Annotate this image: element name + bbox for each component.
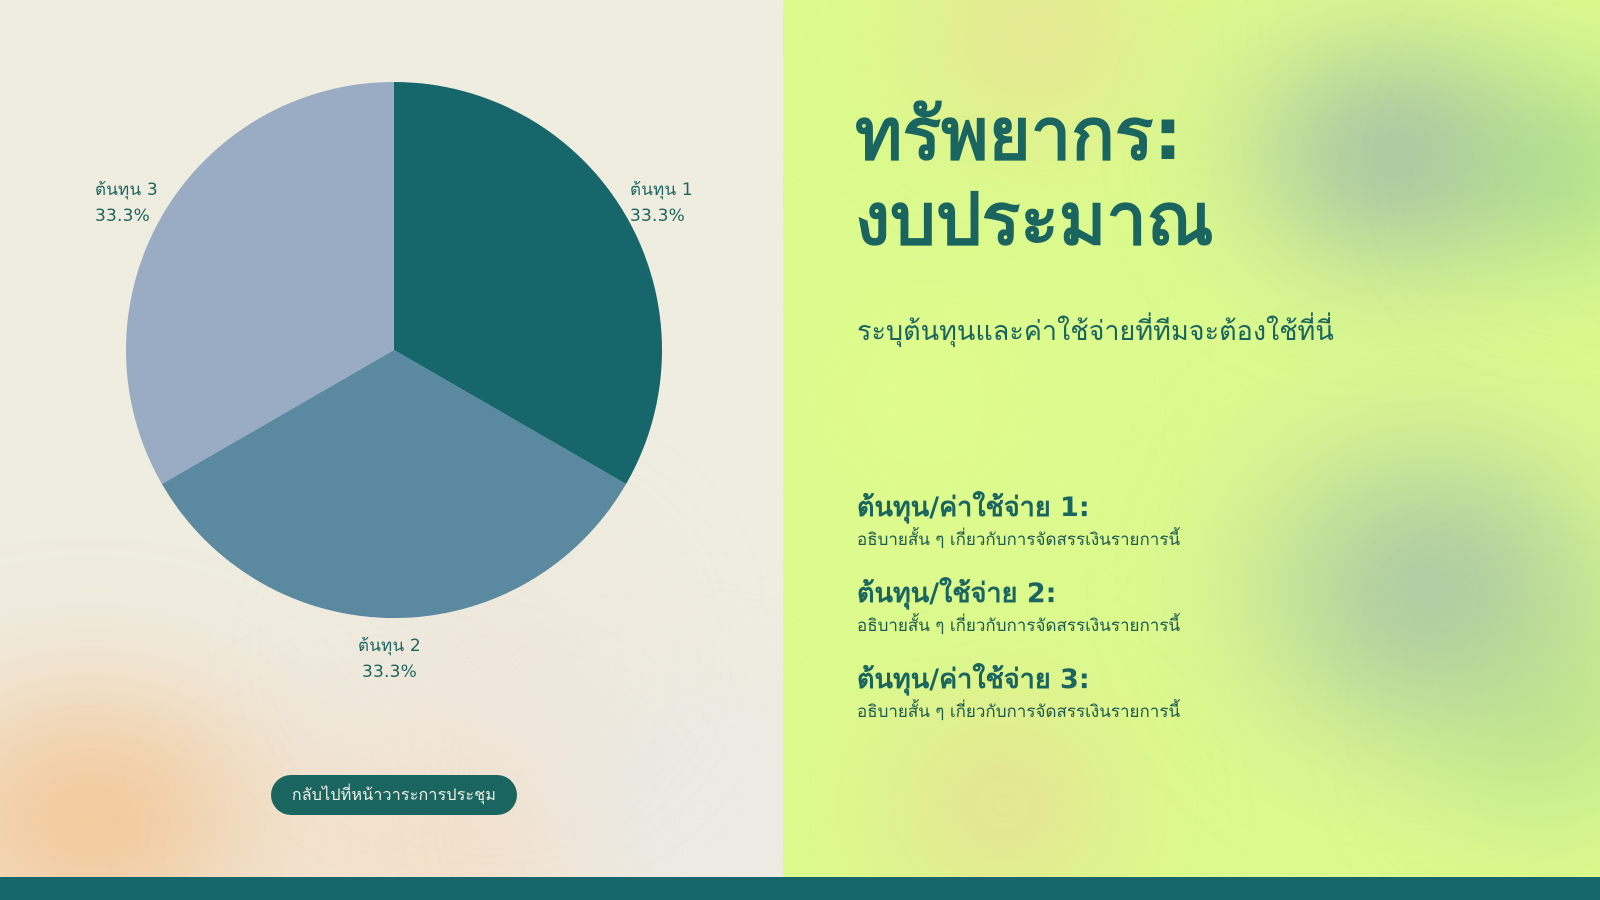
right-panel: ทรัพยากร: งบประมาณ ระบุต้นทุนและค่าใช้จ่… [783, 0, 1600, 877]
pie-label-cost-2-value: 33.3% [358, 660, 421, 686]
pie-label-cost-3-name: ต้นทุน 3 [95, 178, 158, 204]
cost-item-title: ต้นทุน/ค่าใช้จ่าย 3: [857, 662, 1517, 697]
back-to-agenda-button[interactable]: กลับไปที่หน้าวาระการประชุม [271, 775, 517, 815]
page-title-line-2: งบประมาณ [855, 177, 1214, 262]
pie-label-cost-3: ต้นทุน 3 33.3% [95, 178, 158, 229]
cost-item-list: ต้นทุน/ค่าใช้จ่าย 1: อธิบายสั้น ๆ เกี่ยว… [857, 490, 1517, 724]
pie-label-cost-3-value: 33.3% [95, 204, 158, 230]
cost-item: ต้นทุน/ค่าใช้จ่าย 3: อธิบายสั้น ๆ เกี่ยว… [857, 662, 1517, 724]
page-title: ทรัพยากร: งบประมาณ [855, 92, 1214, 262]
footer-bar [0, 877, 1600, 900]
cost-item-title: ต้นทุน/ใช้จ่าย 2: [857, 576, 1517, 611]
slide-root: ต้นทุน 1 33.3% ต้นทุน 2 33.3% ต้นทุน 3 3… [0, 0, 1600, 900]
cost-item: ต้นทุน/ใช้จ่าย 2: อธิบายสั้น ๆ เกี่ยวกับ… [857, 576, 1517, 638]
pie-label-cost-1-value: 33.3% [630, 204, 693, 230]
cost-item-title: ต้นทุน/ค่าใช้จ่าย 1: [857, 490, 1517, 525]
right-content: ทรัพยากร: งบประมาณ ระบุต้นทุนและค่าใช้จ่… [855, 0, 1555, 877]
pie-chart-area: ต้นทุน 1 33.3% ต้นทุน 2 33.3% ต้นทุน 3 3… [0, 0, 783, 760]
pie-chart [124, 80, 664, 620]
pie-label-cost-1: ต้นทุน 1 33.3% [630, 178, 693, 229]
cost-item-description: อธิบายสั้น ๆ เกี่ยวกับการจัดสรรเงินรายกา… [857, 529, 1517, 552]
cost-item-description: อธิบายสั้น ๆ เกี่ยวกับการจัดสรรเงินรายกา… [857, 701, 1517, 724]
pie-label-cost-1-name: ต้นทุน 1 [630, 178, 693, 204]
page-title-line-1: ทรัพยากร: [855, 92, 1214, 177]
page-subtitle: ระบุต้นทุนและค่าใช้จ่ายที่ทีมจะต้องใช้ที… [857, 314, 1334, 349]
left-panel: ต้นทุน 1 33.3% ต้นทุน 2 33.3% ต้นทุน 3 3… [0, 0, 783, 877]
pie-label-cost-2-name: ต้นทุน 2 [358, 634, 421, 660]
cost-item-description: อธิบายสั้น ๆ เกี่ยวกับการจัดสรรเงินรายกา… [857, 615, 1517, 638]
cost-item: ต้นทุน/ค่าใช้จ่าย 1: อธิบายสั้น ๆ เกี่ยว… [857, 490, 1517, 552]
pie-label-cost-2: ต้นทุน 2 33.3% [358, 634, 421, 685]
